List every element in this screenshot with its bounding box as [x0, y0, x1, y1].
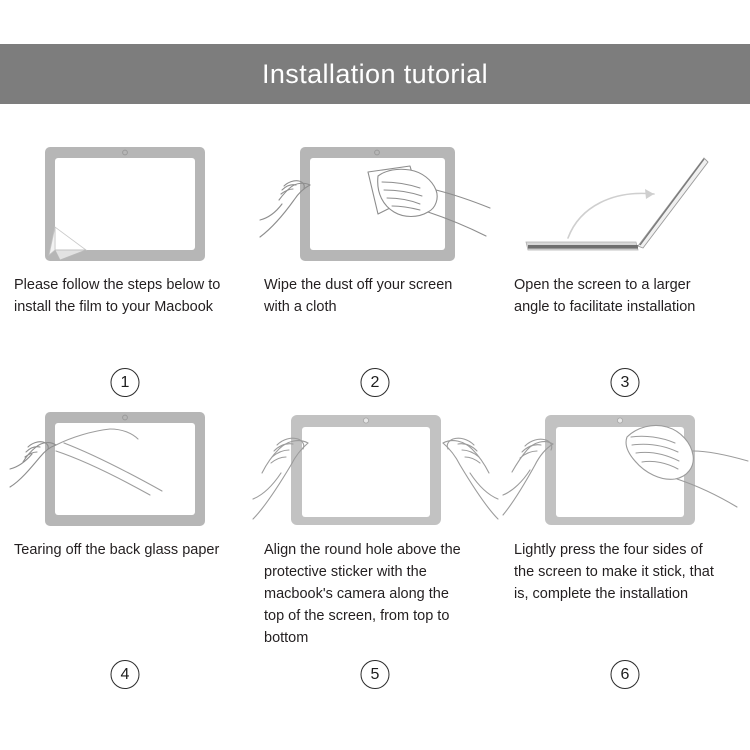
page-title: Installation tutorial	[262, 61, 488, 88]
two-hands-aligning-film-icon	[253, 407, 498, 531]
step-badge-4: 4	[111, 660, 140, 689]
step-caption-5: Align the round hole above the protectiv…	[264, 539, 472, 649]
step-badge-2: 2	[361, 368, 390, 397]
step-caption-3: Open the screen to a larger angle to fac…	[514, 274, 722, 318]
step-badge-6: 6	[611, 660, 640, 689]
step-item-2: Wipe the dust off your screen with a clo…	[250, 140, 500, 405]
step-illustration-5	[250, 405, 500, 533]
step-item-1: Please follow the steps below to install…	[0, 140, 250, 405]
step-illustration-3	[500, 140, 750, 268]
screen-film-peeling-corner-icon	[40, 142, 210, 266]
step-caption-6: Lightly press the four sides of the scre…	[514, 539, 722, 605]
hand-pressing-screen-edges-icon	[503, 407, 748, 531]
step-item-6: Lightly press the four sides of the scre…	[500, 405, 750, 705]
step-item-3: Open the screen to a larger angle to fac…	[500, 140, 750, 405]
header-bar: Installation tutorial	[0, 44, 750, 104]
step-badge-3: 3	[611, 368, 640, 397]
step-caption-1: Please follow the steps below to install…	[14, 274, 222, 318]
step-item-5: Align the round hole above the protectiv…	[250, 405, 500, 705]
step-caption-4: Tearing off the back glass paper	[14, 539, 222, 561]
step-illustration-2	[250, 140, 500, 268]
step-illustration-1	[0, 140, 250, 268]
step-badge-1: 1	[111, 368, 140, 397]
hand-wiping-screen-with-cloth-icon	[260, 142, 490, 266]
laptop-opening-side-view-icon	[518, 142, 733, 266]
step-illustration-4	[0, 405, 250, 533]
step-caption-2: Wipe the dust off your screen with a clo…	[264, 274, 472, 318]
step-item-4: Tearing off the back glass paper 4	[0, 405, 250, 705]
hand-tearing-back-paper-icon	[10, 407, 240, 531]
steps-grid: Please follow the steps below to install…	[0, 140, 750, 705]
step-illustration-6	[500, 405, 750, 533]
step-badge-5: 5	[361, 660, 390, 689]
